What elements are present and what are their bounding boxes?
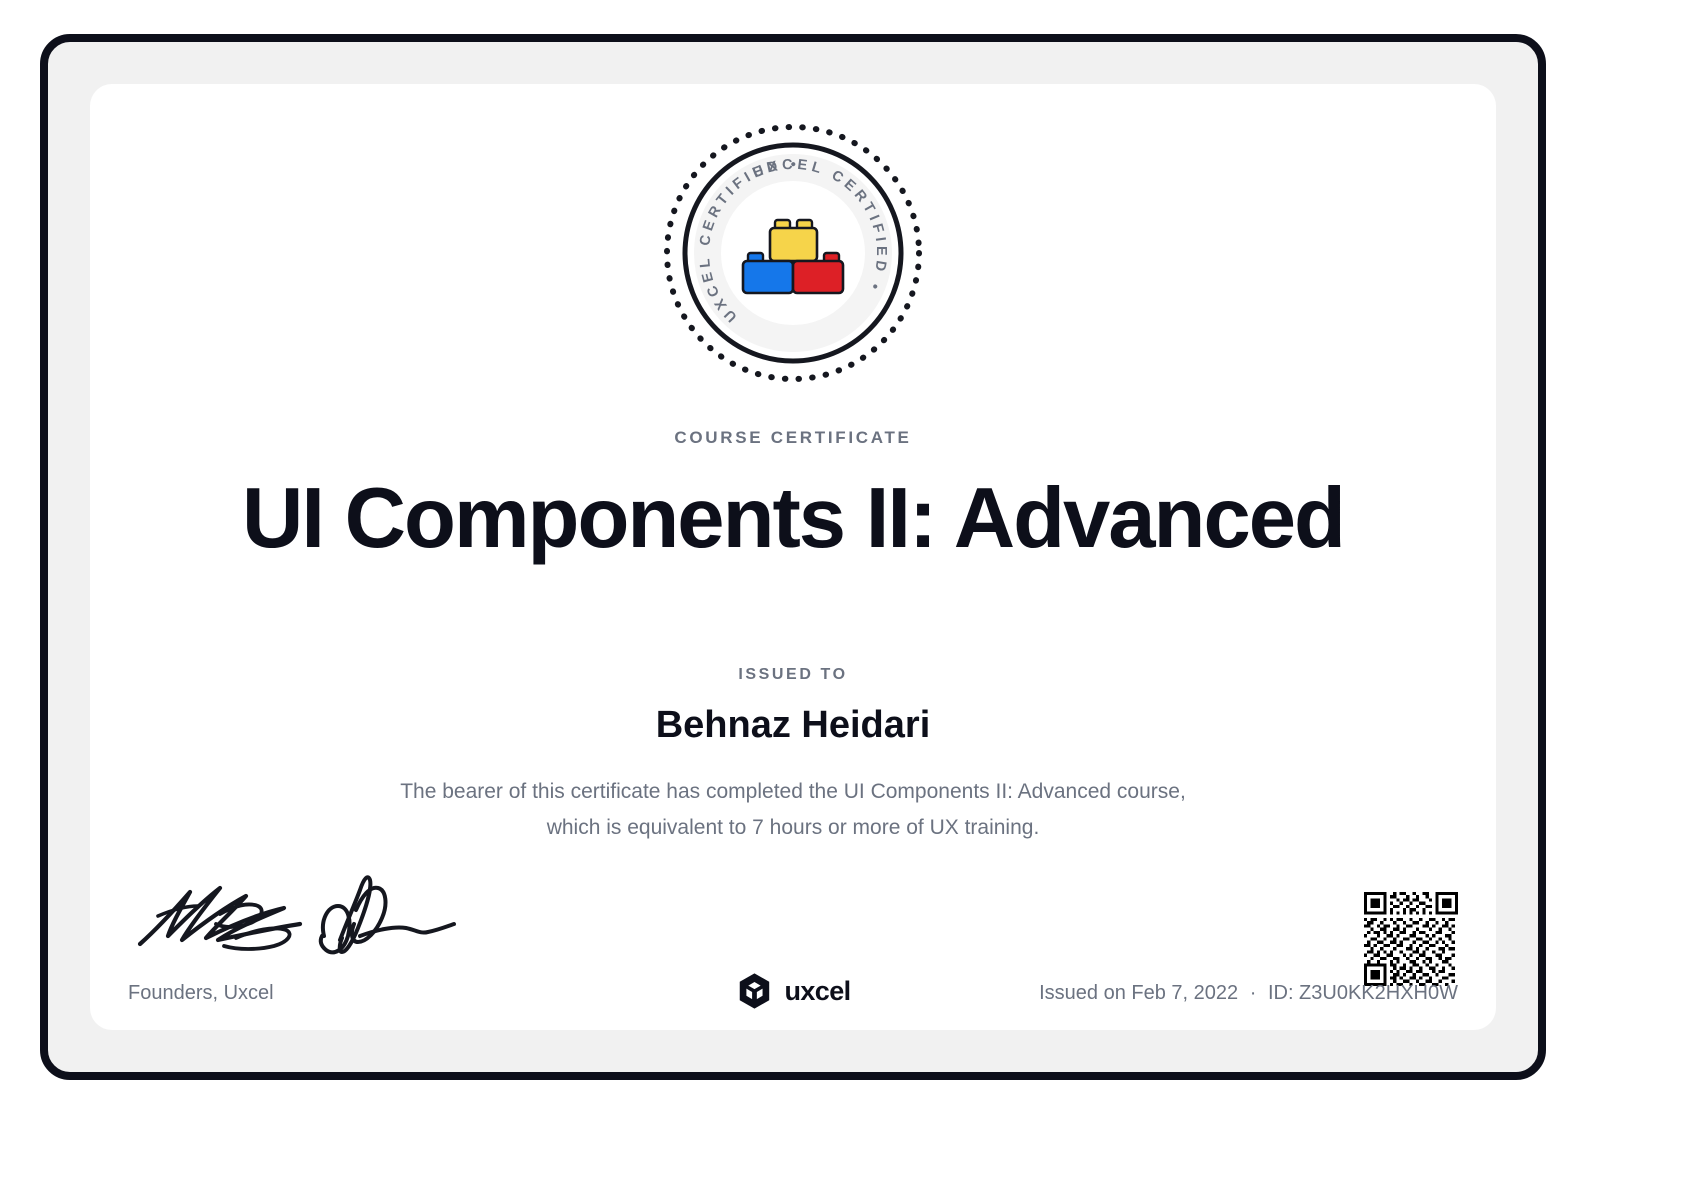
signature-icon (128, 844, 458, 959)
certificate-description: The bearer of this certificate has compl… (398, 774, 1188, 846)
certificate-qr-code[interactable] (1364, 892, 1458, 986)
certificate-body: UXCEL CERTIFIED • UXCEL CERTIFIED • (90, 84, 1496, 1030)
kicker-course-certificate: COURSE CERTIFICATE (90, 428, 1496, 448)
badge-seal-icon: UXCEL CERTIFIED • UXCEL CERTIFIED • (662, 122, 924, 384)
uxcel-brand: uxcel (735, 972, 850, 1010)
certificate-frame: UXCEL CERTIFIED • UXCEL CERTIFIED • (40, 34, 1546, 1080)
qr-code-icon (1364, 892, 1458, 986)
founders-label: Founders, Uxcel (128, 982, 274, 1005)
founder-signatures (128, 844, 458, 959)
certificate-id: ID: Z3U0KK2HXH0W (1268, 982, 1458, 1004)
meta-separator: · (1244, 982, 1263, 1004)
recipient-name: Behnaz Heidari (90, 704, 1496, 747)
uxcel-logo-icon (735, 972, 773, 1010)
issued-on-date: Issued on Feb 7, 2022 (1039, 982, 1238, 1004)
brand-name: uxcel (784, 976, 850, 1007)
description-line-1: The bearer of this certificate has compl… (400, 780, 1111, 803)
course-title: UI Components II: Advanced (90, 476, 1496, 561)
issue-metadata: Issued on Feb 7, 2022 · ID: Z3U0KK2HXH0W (1039, 982, 1458, 1005)
issued-to-label: ISSUED TO (90, 666, 1496, 684)
uxcel-certified-badge: UXCEL CERTIFIED • UXCEL CERTIFIED • (662, 122, 924, 384)
